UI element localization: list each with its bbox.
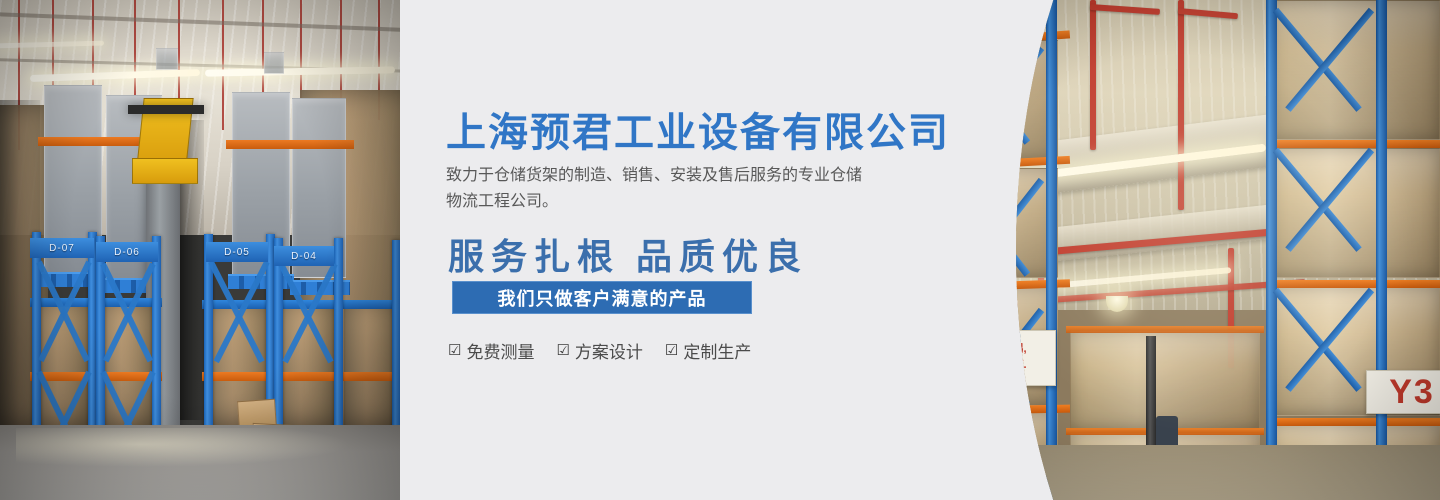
wrapped-pallet [1070,330,1260,430]
check-box-icon: ☑ [556,343,569,358]
ceiling-vent [156,48,178,70]
company-title: 上海预君工业设备有限公司 [446,100,950,158]
rack-upright [1266,0,1277,500]
wrapped-pallet [1270,0,1440,140]
safety-sign-line-2: 事故出于麻痹. [957,359,1026,373]
safety-sign-line-1: 安全来于警惕, [957,343,1026,357]
check-box-icon: ☑ [665,343,678,358]
rack-beam [202,372,400,381]
hero-content: 上海预君工业设备有限公司 致力于仓储货架的制造、销售、安装及售后服务的专业仓储物… [400,0,960,500]
aisle-sign: D-07 [30,238,94,258]
sprinkler-pipe [1178,0,1184,210]
aisle-sign: D-06 [96,242,158,262]
hero-banner: D-07 D-06 D-05 D-04 [0,0,1440,500]
warehouse-floor [0,425,400,500]
feature-label: 方案设计 [575,338,643,363]
check-box-icon: ☑ [448,343,461,358]
feature-label: 定制生产 [683,338,751,363]
warehouse-photo-right-wrap: Foxconn Foxconn Foxconn Foxconn [910,0,1440,500]
rack-beam [1266,140,1440,148]
rack-upright [1376,0,1387,500]
ceiling-vent [264,52,284,74]
rack-brace [951,46,1030,145]
feature-item-free-measure: ☑ 免费测量 [448,338,534,363]
rack-beam [1266,280,1440,288]
stacker-crane-carriage [132,158,198,184]
sprinkler-pipe [1090,0,1096,150]
company-subtitle: 致力于仓储货架的制造、销售、安装及售后服务的专业仓储物流工程公司。 [446,163,864,215]
promise-badge: 我们只做客户满意的产品 [452,281,752,314]
aisle-marker-sign-edge: Y3 [1366,370,1440,414]
rack-beam [226,140,354,149]
warehouse-floor [910,445,1440,500]
rack-brace [951,308,1030,407]
rack-beam [1066,326,1264,333]
feature-label: 免费测量 [466,338,534,363]
stacker-crane-boom [128,105,204,114]
feature-list: ☑ 免费测量 ☑ 方案设计 ☑ 定制生产 [448,338,773,363]
company-slogan: 服务扎根 品质优良 [448,228,808,280]
aisle-sign: D-05 [206,242,268,262]
warehouse-photo-left: D-07 D-06 D-05 D-04 [0,0,400,500]
feature-item-custom-production: ☑ 定制生产 [665,338,751,363]
rack-beam [1266,418,1440,426]
warehouse-photo-right: Foxconn Foxconn Foxconn Foxconn [910,0,1440,500]
feature-item-solution-design: ☑ 方案设计 [556,338,642,363]
aisle-sign: D-04 [274,246,334,266]
rack-upright [1046,0,1057,500]
